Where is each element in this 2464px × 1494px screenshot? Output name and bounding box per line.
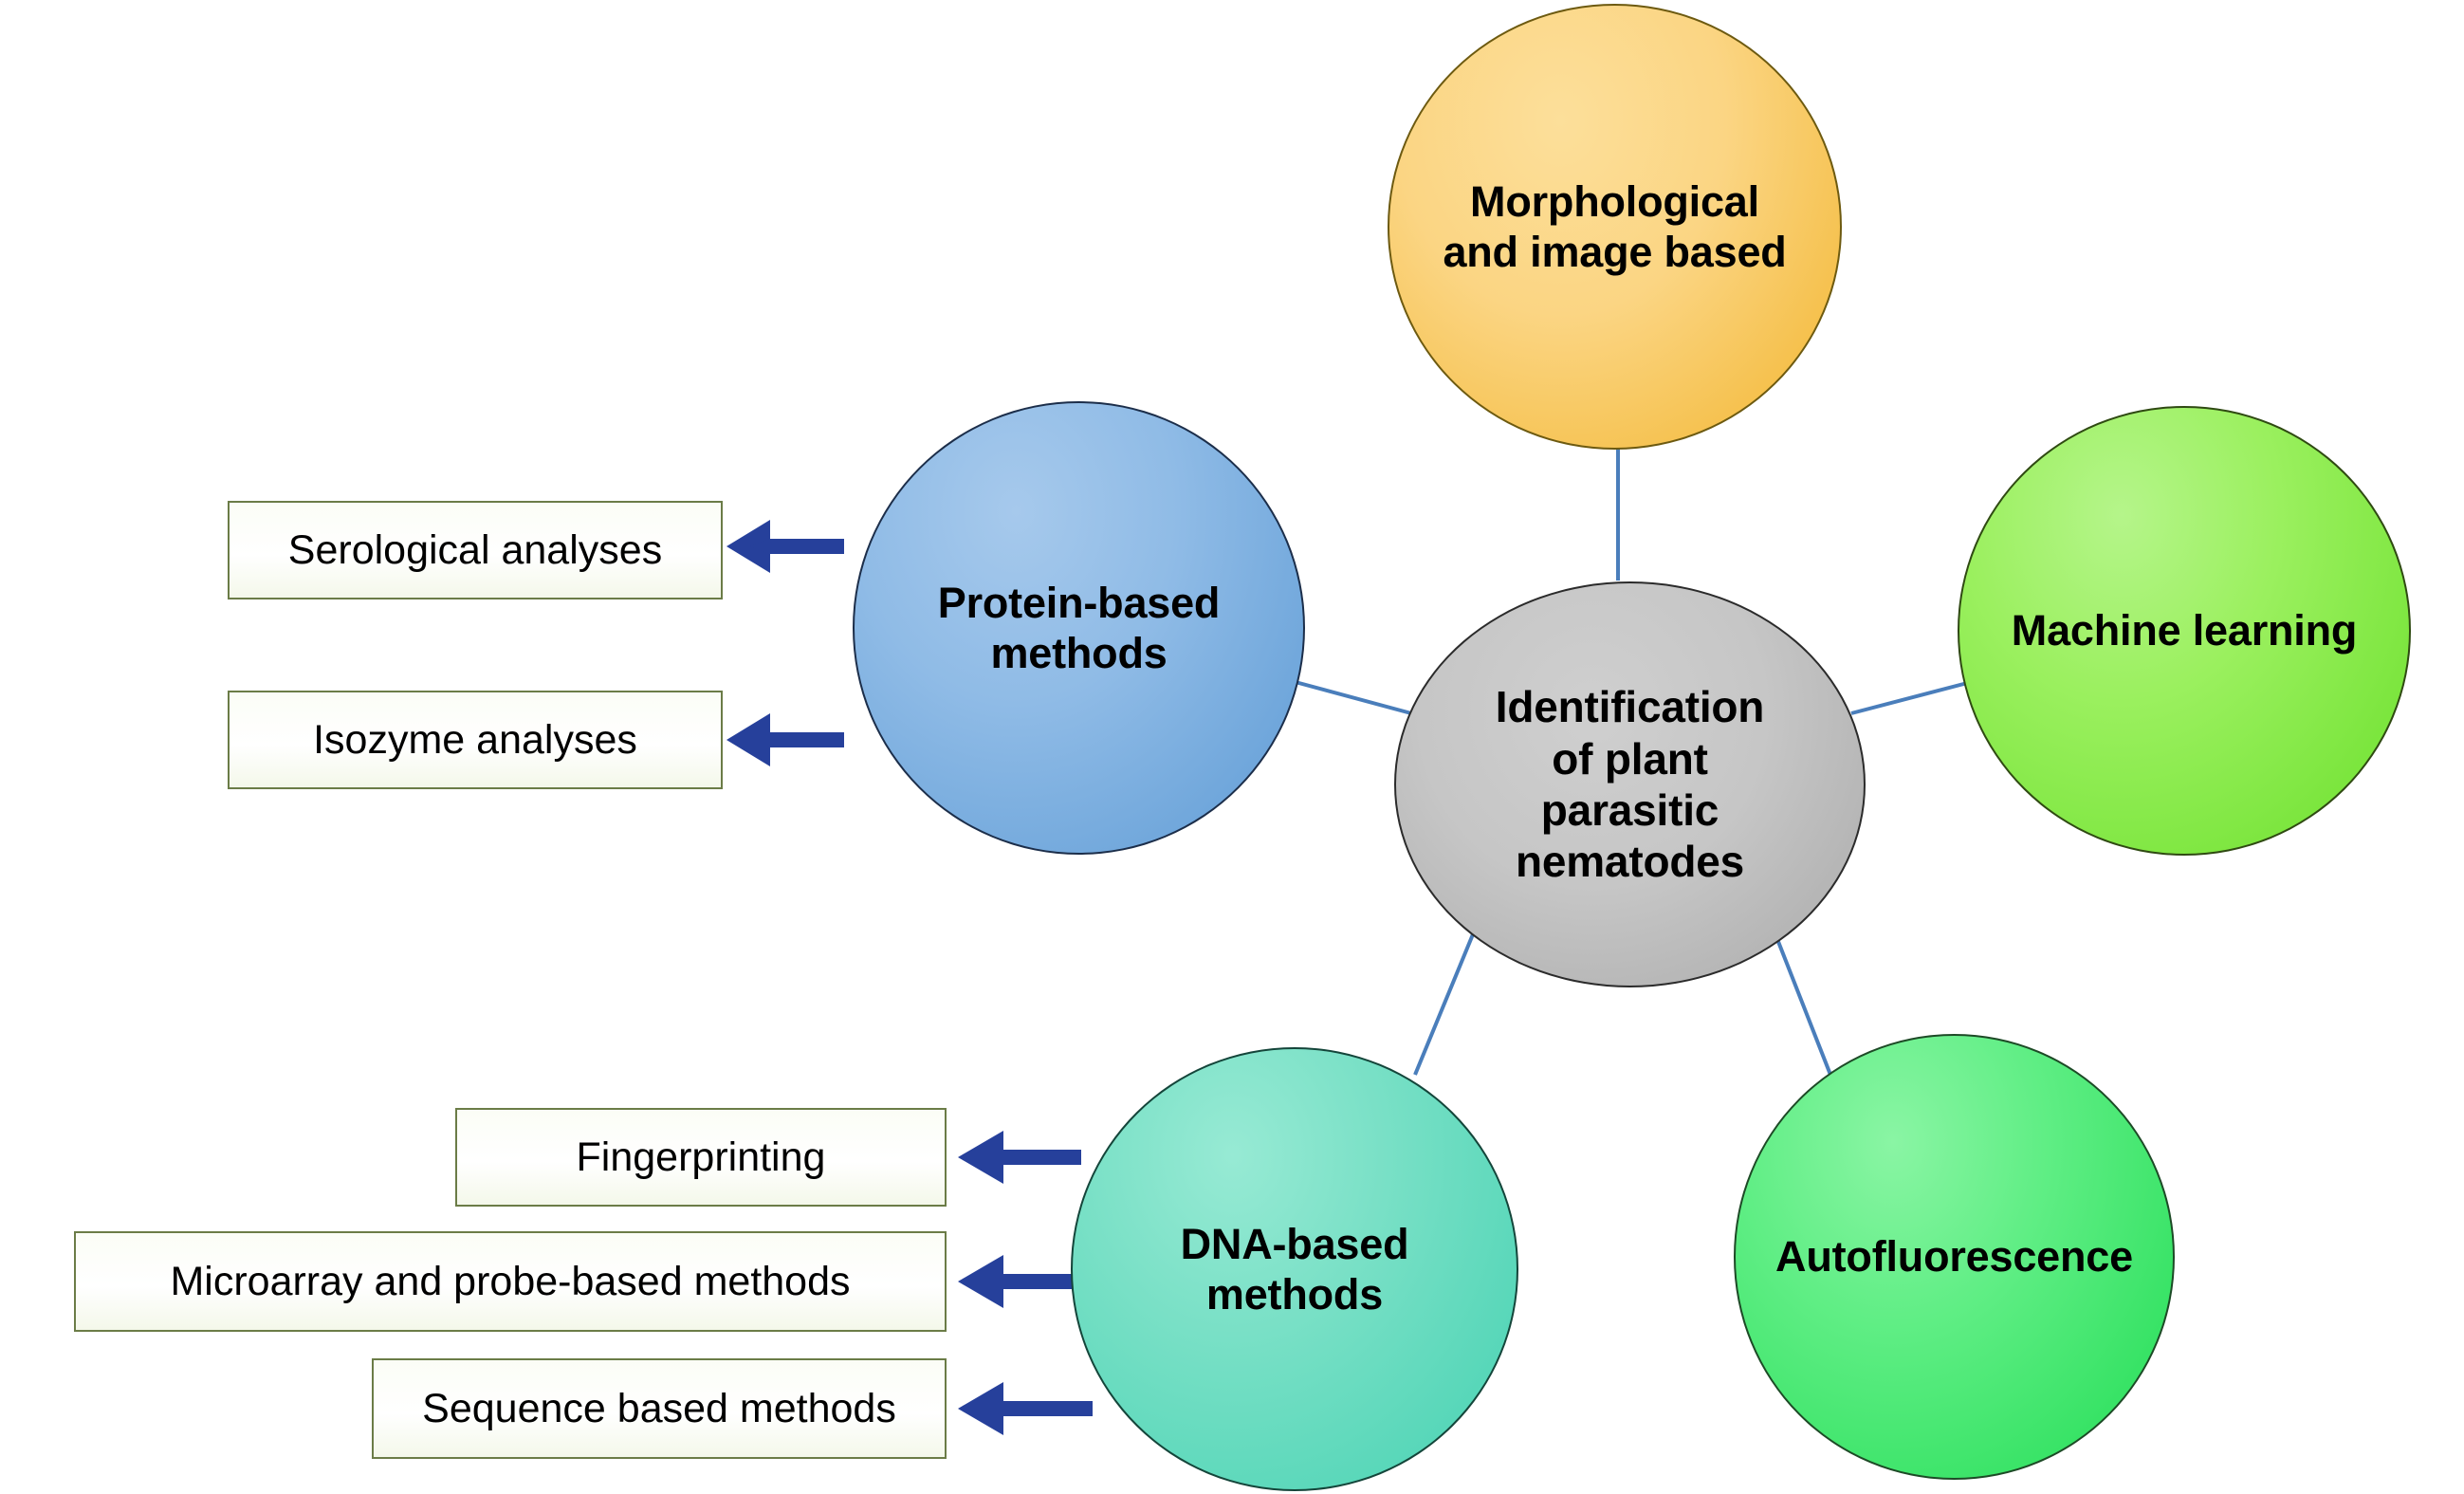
hub-label-line-3: parasitic (1541, 785, 1719, 835)
arrow-to-serological-analyses (726, 520, 844, 573)
leaf-box-sequence-based[interactable]: Sequence based methods (372, 1358, 947, 1459)
protein-line-1: Protein-based (938, 579, 1220, 627)
branch-node-autofluorescence[interactable]: Autofluorescence (1734, 1034, 2175, 1480)
leaf-label-serological-analyses: Serological analyses (273, 527, 677, 574)
branch-label-morphological: Morphologicaland image based (1433, 176, 1795, 277)
dna-line-2: methods (1206, 1270, 1383, 1319)
morphological-line-1: Morphological (1470, 177, 1759, 226)
diagram-canvas: Identificationof plantparasiticnematodes… (0, 0, 2464, 1494)
protein-line-2: methods (990, 629, 1167, 677)
branch-label-autofluorescence: Autofluorescence (1766, 1231, 2142, 1282)
leaf-label-sequence-based: Sequence based methods (407, 1386, 911, 1432)
leaf-box-serological-analyses[interactable]: Serological analyses (228, 501, 723, 599)
hub-label-line-2: of plant (1552, 734, 1707, 784)
hub-node-identification[interactable]: Identificationof plantparasiticnematodes (1394, 581, 1866, 987)
hub-label-line-4: nematodes (1516, 837, 1744, 886)
hub-node-label: Identificationof plantparasiticnematodes (1486, 681, 1774, 887)
branch-node-protein-based[interactable]: Protein-basedmethods (853, 401, 1305, 855)
arrow-to-isozyme-analyses (726, 713, 844, 766)
leaf-box-microarray-probe-based[interactable]: Microarray and probe-based methods (74, 1231, 947, 1332)
leaf-box-isozyme-analyses[interactable]: Isozyme analyses (228, 691, 723, 789)
leaf-label-microarray-probe-based: Microarray and probe-based methods (155, 1259, 865, 1305)
branch-node-morphological[interactable]: Morphologicaland image based (1388, 4, 1842, 450)
hub-label-line-1: Identification (1496, 682, 1764, 731)
arrow-to-sequence-based (958, 1382, 1093, 1435)
branch-label-protein-based: Protein-basedmethods (929, 578, 1229, 678)
branch-node-dna-based[interactable]: DNA-basedmethods (1071, 1047, 1518, 1491)
branch-label-machine-learning: Machine learning (2002, 605, 2366, 655)
morphological-line-2: and image based (1443, 228, 1786, 276)
dna-line-1: DNA-based (1181, 1220, 1409, 1268)
leaf-box-fingerprinting[interactable]: Fingerprinting (455, 1108, 947, 1207)
branch-label-dna-based: DNA-basedmethods (1171, 1219, 1419, 1319)
leaf-label-fingerprinting: Fingerprinting (561, 1134, 841, 1181)
branch-node-machine-learning[interactable]: Machine learning (1958, 406, 2411, 856)
leaf-label-isozyme-analyses: Isozyme analyses (298, 717, 653, 764)
arrow-to-fingerprinting (958, 1131, 1081, 1184)
